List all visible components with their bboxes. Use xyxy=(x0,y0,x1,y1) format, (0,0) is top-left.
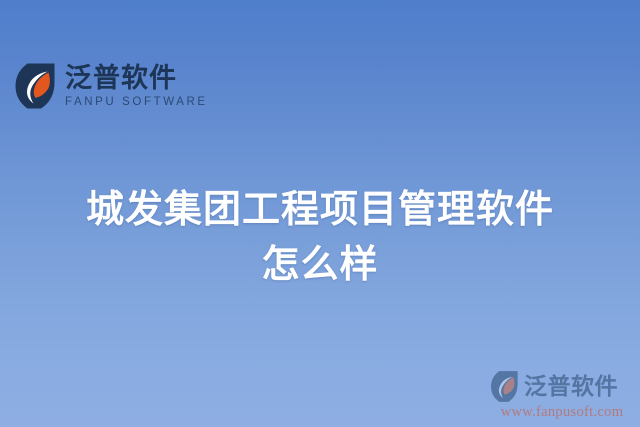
watermark-url: www.fanpusoft.com xyxy=(490,404,634,421)
headline-line-2: 怎么样 xyxy=(0,238,640,293)
brand-name-en: FANPU SOFTWARE xyxy=(65,96,208,108)
brand-name-cn: 泛普软件 xyxy=(65,64,208,92)
watermark-logo-row: 泛普软件 xyxy=(490,370,634,403)
headline-line-1: 城发集团工程项目管理软件 xyxy=(0,183,640,238)
fanpu-logo-watermark-icon xyxy=(490,370,520,403)
headline: 城发集团工程项目管理软件 怎么样 xyxy=(0,183,640,293)
watermark: 泛普软件 www.fanpusoft.com xyxy=(490,370,634,421)
brand-text-block: 泛普软件 FANPU SOFTWARE xyxy=(65,64,208,108)
fanpu-logo-icon xyxy=(14,62,58,110)
promo-banner: 泛普软件 FANPU SOFTWARE 城发集团工程项目管理软件 怎么样 泛普软… xyxy=(0,0,640,427)
watermark-name-cn: 泛普软件 xyxy=(524,375,618,398)
brand-lockup: 泛普软件 FANPU SOFTWARE xyxy=(14,62,208,110)
